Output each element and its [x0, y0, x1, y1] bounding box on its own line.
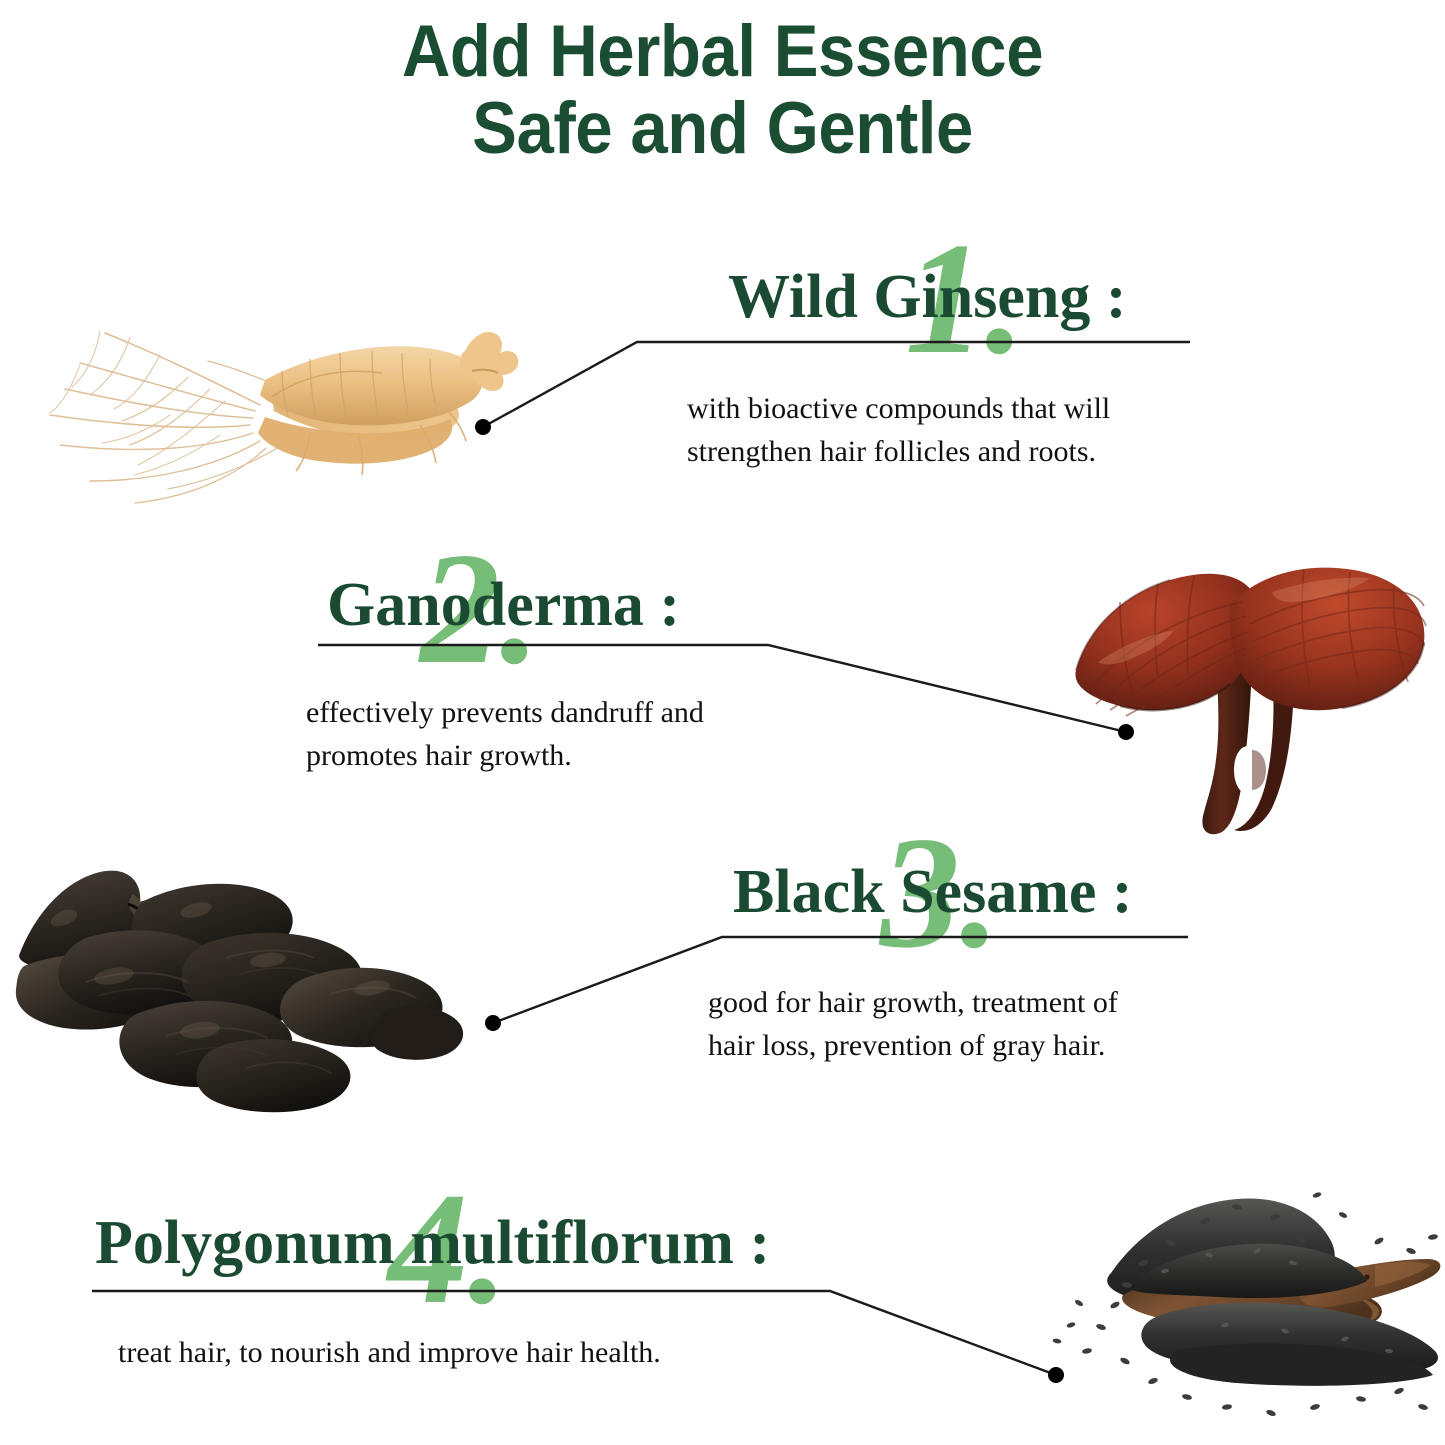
- infographic-canvas: Add Herbal Essence Safe and Gentle: [0, 0, 1445, 1445]
- section-heading-1: Wild Ginseng :: [728, 262, 1127, 333]
- section-body-1-line-1: with bioactive compounds that will: [687, 388, 1227, 431]
- section-body-2-line-1: effectively prevents dandruff and: [306, 692, 846, 735]
- ganoderma-reishi-mushroom-photo: [1062, 550, 1440, 835]
- section-body-2: effectively prevents dandruff and promot…: [306, 692, 846, 777]
- section-body-4-line-1: treat hair, to nourish and improve hair …: [118, 1332, 878, 1375]
- dried-black-slices-photo: [0, 858, 470, 1123]
- section-heading-2: Ganoderma :: [327, 570, 680, 641]
- page-title: Add Herbal Essence Safe and Gentle: [0, 14, 1445, 167]
- black-sesame-seeds-scoop-photo: [975, 1155, 1445, 1445]
- section-body-3-line-2: hair loss, prevention of gray hair.: [708, 1025, 1248, 1068]
- wild-ginseng-root-photo: [10, 285, 510, 510]
- section-body-3-line-1: good for hair growth, treatment of: [708, 982, 1248, 1025]
- title-line-2: Safe and Gentle: [58, 91, 1387, 168]
- section-body-4: treat hair, to nourish and improve hair …: [118, 1332, 878, 1375]
- title-line-1: Add Herbal Essence: [58, 14, 1387, 91]
- section-body-2-line-2: promotes hair growth.: [306, 735, 846, 778]
- section-body-3: good for hair growth, treatment of hair …: [708, 982, 1248, 1067]
- section-heading-4: Polygonum multiflorum :: [95, 1208, 770, 1279]
- section-heading-3: Black Sesame :: [733, 857, 1133, 928]
- section-body-1: with bioactive compounds that will stren…: [687, 388, 1227, 473]
- section-body-1-line-2: strengthen hair follicles and roots.: [687, 431, 1227, 474]
